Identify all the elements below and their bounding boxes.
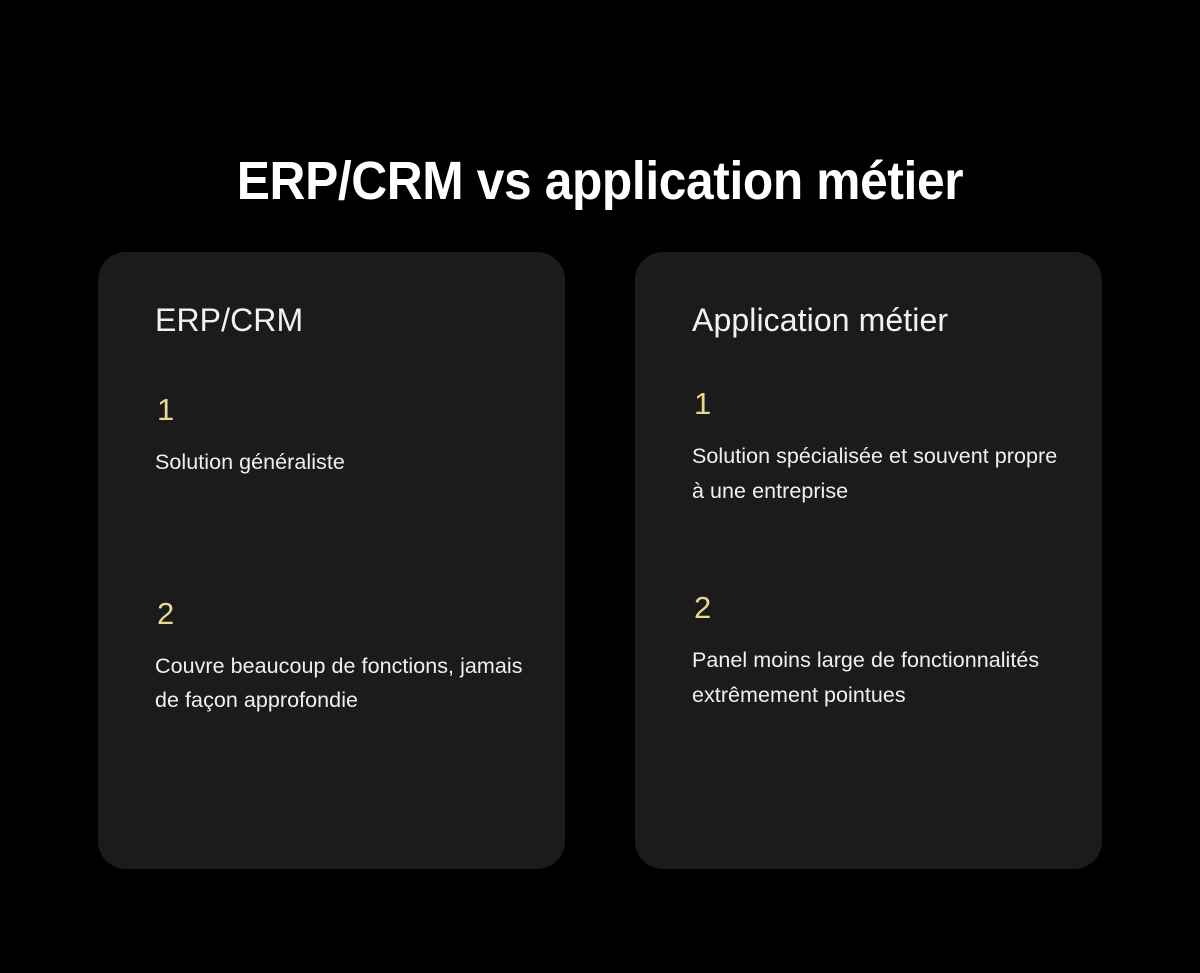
item-text: Solution spécialisée et souvent propre à… — [692, 439, 1068, 508]
item-number-badge: 1 — [155, 392, 531, 428]
list-item: 1 Solution généraliste — [155, 392, 531, 480]
item-text: Solution généraliste — [155, 445, 531, 480]
comparison-card-application-metier: Application métier 1 Solution spécialisé… — [635, 252, 1102, 869]
comparison-card-row: ERP/CRM 1 Solution généraliste 2 Couvre … — [98, 252, 1101, 869]
list-item: 2 Panel moins large de fonctionnalités e… — [692, 590, 1068, 712]
list-item: 2 Couvre beaucoup de fonctions, jamais d… — [155, 596, 531, 718]
item-number-badge: 2 — [692, 590, 1068, 626]
card-heading-erp-crm: ERP/CRM — [155, 300, 523, 340]
card-heading-application-metier: Application métier — [692, 300, 1060, 340]
item-number-badge: 2 — [155, 596, 531, 632]
comparison-card-erp-crm: ERP/CRM 1 Solution généraliste 2 Couvre … — [98, 252, 565, 869]
list-item: 1 Solution spécialisée et souvent propre… — [692, 386, 1068, 508]
page-title: ERP/CRM vs application métier — [48, 149, 1152, 213]
comparison-slide: ERP/CRM vs application métier ERP/CRM 1 … — [0, 0, 1200, 973]
item-text: Panel moins large de fonctionnalités ext… — [692, 643, 1068, 712]
item-number-badge: 1 — [692, 386, 1068, 422]
card-item-list-application-metier: 1 Solution spécialisée et souvent propre… — [692, 386, 1068, 712]
card-item-list-erp-crm: 1 Solution généraliste 2 Couvre beaucoup… — [155, 392, 531, 718]
item-text: Couvre beaucoup de fonctions, jamais de … — [155, 649, 531, 718]
